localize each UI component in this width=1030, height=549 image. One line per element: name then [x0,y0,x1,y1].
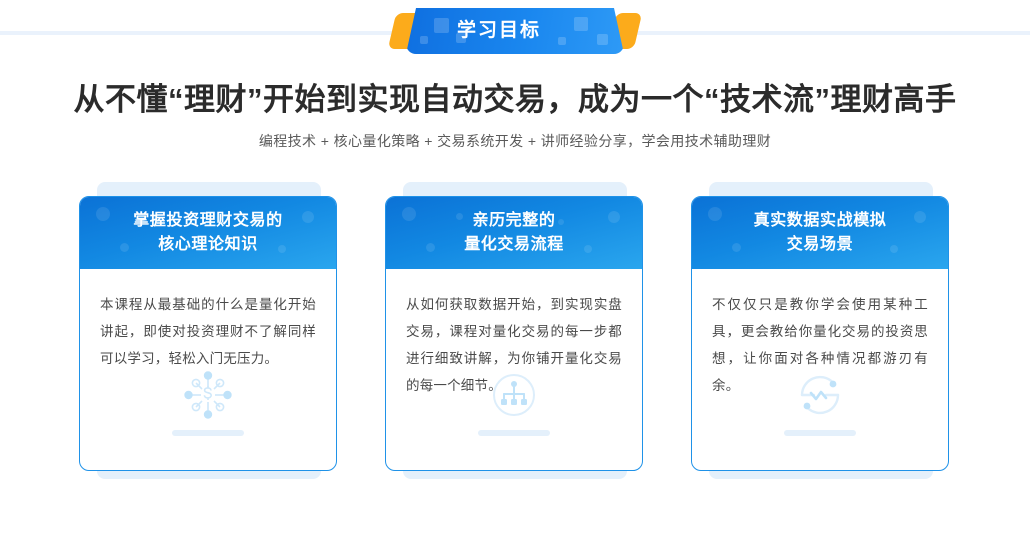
card-underline [784,430,856,436]
feature-card-slot: 掌握投资理财交易的 核心理论知识 本课程从最基础的什么是量化开始讲起，即使对投资… [79,182,339,479]
feature-card-list: 掌握投资理财交易的 核心理论知识 本课程从最基础的什么是量化开始讲起，即使对投资… [79,182,951,479]
card-title-line-1: 亲历完整的 [386,209,642,233]
banner-ribbon: 学习目标 [390,8,640,54]
feature-card-slot: 真实数据实战模拟 交易场景 不仅仅只是教你学会使用某种工具，更会教给你量化交易的… [691,182,951,479]
card-header: 真实数据实战模拟 交易场景 [692,197,948,269]
card-title-line-2: 量化交易流程 [386,233,642,257]
feature-card[interactable]: 掌握投资理财交易的 核心理论知识 本课程从最基础的什么是量化开始讲起，即使对投资… [79,196,337,471]
sync-chart-icon [692,368,948,422]
card-title: 真实数据实战模拟 交易场景 [692,197,948,257]
card-underline [478,430,550,436]
flowchart-circle-icon [386,368,642,422]
section-banner: 学习目标 [0,8,1030,54]
card-title-line-2: 核心理论知识 [80,233,336,257]
network-dollar-icon [80,368,336,422]
page-subtitle: 编程技术 + 核心量化策略 + 交易系统开发 + 讲师经验分享，学会用技术辅助理… [0,131,1030,151]
card-description: 本课程从最基础的什么是量化开始讲起，即使对投资理财不了解同样可以学习，轻松入门无… [80,269,336,372]
card-underline [172,430,244,436]
card-header: 亲历完整的 量化交易流程 [386,197,642,269]
banner-title: 学习目标 [390,8,608,54]
card-title-line-1: 掌握投资理财交易的 [80,209,336,233]
card-title: 亲历完整的 量化交易流程 [386,197,642,257]
feature-card-slot: 亲历完整的 量化交易流程 从如何获取数据开始，到实现实盘交易，课程对量化交易的每… [385,182,645,479]
card-header: 掌握投资理财交易的 核心理论知识 [80,197,336,269]
feature-card[interactable]: 真实数据实战模拟 交易场景 不仅仅只是教你学会使用某种工具，更会教给你量化交易的… [691,196,949,471]
card-title-line-1: 真实数据实战模拟 [692,209,948,233]
card-title-line-2: 交易场景 [692,233,948,257]
page-title: 从不懂“理财”开始到实现自动交易，成为一个“技术流”理财高手 [0,74,1030,119]
feature-card[interactable]: 亲历完整的 量化交易流程 从如何获取数据开始，到实现实盘交易，课程对量化交易的每… [385,196,643,471]
card-title: 掌握投资理财交易的 核心理论知识 [80,197,336,257]
